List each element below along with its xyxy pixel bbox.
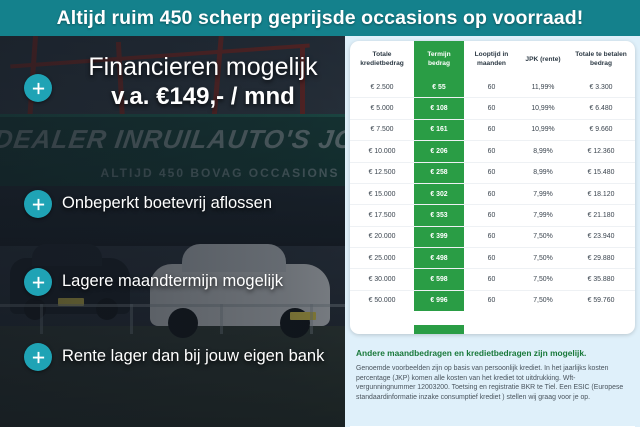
table-row: € 30.000€ 598607,50%€ 35.880 xyxy=(350,269,635,290)
table-cell: 7,99% xyxy=(519,205,567,226)
table-cell: 60 xyxy=(464,77,519,98)
table-cell: € 12.360 xyxy=(567,141,635,162)
table-cell: 7,99% xyxy=(519,183,567,204)
table-cell: € 3.300 xyxy=(567,77,635,98)
feature-item-3: Rente lager dan bij jouw eigen bank xyxy=(62,347,352,366)
disclaimer-body: Genoemde voorbeelden zijn op basis van p… xyxy=(356,364,628,402)
table-cell: € 15.480 xyxy=(567,162,635,183)
table-row: € 7.500€ 1616010,99%€ 9.660 xyxy=(350,119,635,140)
table-cell: 60 xyxy=(464,226,519,247)
loan-info-panel: Totale kredietbedrag Termijn bedrag Loop… xyxy=(345,36,640,427)
table-row: € 10.000€ 206608,99%€ 12.360 xyxy=(350,141,635,162)
plus-icon xyxy=(24,74,52,102)
table-cell: € 206 xyxy=(414,141,464,162)
table-cell: € 35.880 xyxy=(567,269,635,290)
table-row: € 20.000€ 399607,50%€ 23.940 xyxy=(350,226,635,247)
headline: Financieren mogelijk v.a. €149,- / mnd xyxy=(62,52,344,112)
table-cell: € 23.940 xyxy=(567,226,635,247)
loan-table-card: Totale kredietbedrag Termijn bedrag Loop… xyxy=(350,41,635,334)
table-cell: 8,99% xyxy=(519,141,567,162)
table-row: € 50.000€ 996607,50%€ 59.760 xyxy=(350,290,635,311)
table-cell: € 996 xyxy=(414,290,464,311)
table-cell: € 5.000 xyxy=(350,98,414,119)
column-header-term-amount: Termijn bedrag xyxy=(414,41,464,77)
table-cell: € 161 xyxy=(414,119,464,140)
loan-table: Totale kredietbedrag Termijn bedrag Loop… xyxy=(350,41,635,311)
plus-icon xyxy=(24,268,52,296)
table-cell: € 59.760 xyxy=(567,290,635,311)
table-row: € 12.500€ 258608,99%€ 15.480 xyxy=(350,162,635,183)
top-banner: Altijd ruim 450 scherp geprijsde occasio… xyxy=(0,0,640,36)
table-cell: € 17.500 xyxy=(350,205,414,226)
table-body: € 2.500€ 556011,99%€ 3.300€ 5.000€ 10860… xyxy=(350,77,635,311)
table-cell: 7,50% xyxy=(519,290,567,311)
table-cell: € 2.500 xyxy=(350,77,414,98)
table-cell: € 108 xyxy=(414,98,464,119)
column-header-duration: Looptijd in maanden xyxy=(464,41,519,77)
table-cell: € 498 xyxy=(414,248,464,269)
table-cell: € 50.000 xyxy=(350,290,414,311)
disclaimer: Andere maandbedragen en kredietbedragen … xyxy=(356,348,628,402)
advertisement-banner: DEALER INRUILAUTO'S JOHAN MEURE ALTIJD 4… xyxy=(0,0,640,427)
table-cell: 60 xyxy=(464,98,519,119)
headline-line2: v.a. €149,- / mnd xyxy=(62,82,344,112)
feature-item-2: Lagere maandtermijn mogelijk xyxy=(62,272,352,291)
table-cell: 8,99% xyxy=(519,162,567,183)
table-cell: 60 xyxy=(464,290,519,311)
table-cell: 60 xyxy=(464,162,519,183)
table-cell: € 302 xyxy=(414,183,464,204)
table-cell: € 598 xyxy=(414,269,464,290)
table-cell: € 25.000 xyxy=(350,248,414,269)
table-cell: € 21.180 xyxy=(567,205,635,226)
table-cell: 10,99% xyxy=(519,98,567,119)
table-cell: 7,50% xyxy=(519,248,567,269)
table-cell: € 353 xyxy=(414,205,464,226)
column-header-total-credit: Totale kredietbedrag xyxy=(350,41,414,77)
table-cell: 60 xyxy=(464,205,519,226)
table-cell: € 9.660 xyxy=(567,119,635,140)
table-cell: 60 xyxy=(464,248,519,269)
table-cell: € 6.480 xyxy=(567,98,635,119)
highlight-column-tail xyxy=(414,325,464,334)
top-banner-text: Altijd ruim 450 scherp geprijsde occasio… xyxy=(57,7,584,30)
table-cell: € 258 xyxy=(414,162,464,183)
table-cell: 7,50% xyxy=(519,226,567,247)
column-header-total-payable: Totale te betalen bedrag xyxy=(567,41,635,77)
left-content: Financieren mogelijk v.a. €149,- / mnd O… xyxy=(0,36,345,427)
table-cell: € 18.120 xyxy=(567,183,635,204)
plus-icon xyxy=(24,343,52,371)
table-cell: 60 xyxy=(464,269,519,290)
table-cell: € 7.500 xyxy=(350,119,414,140)
table-cell: 7,50% xyxy=(519,269,567,290)
table-cell: 60 xyxy=(464,119,519,140)
table-row: € 2.500€ 556011,99%€ 3.300 xyxy=(350,77,635,98)
disclaimer-title: Andere maandbedragen en kredietbedragen … xyxy=(356,348,628,359)
table-header-row: Totale kredietbedrag Termijn bedrag Loop… xyxy=(350,41,635,77)
column-header-jkp: JPK (rente) xyxy=(519,41,567,77)
plus-icon xyxy=(24,190,52,218)
table-row: € 17.500€ 353607,99%€ 21.180 xyxy=(350,205,635,226)
table-cell: € 12.500 xyxy=(350,162,414,183)
table-cell: 10,99% xyxy=(519,119,567,140)
table-cell: € 30.000 xyxy=(350,269,414,290)
table-cell: € 15.000 xyxy=(350,183,414,204)
table-cell: 60 xyxy=(464,183,519,204)
headline-line1: Financieren mogelijk xyxy=(62,52,344,82)
table-cell: € 10.000 xyxy=(350,141,414,162)
table-cell: € 20.000 xyxy=(350,226,414,247)
table-cell: 11,99% xyxy=(519,77,567,98)
table-cell: € 399 xyxy=(414,226,464,247)
table-cell: € 29.880 xyxy=(567,248,635,269)
table-row: € 15.000€ 302607,99%€ 18.120 xyxy=(350,183,635,204)
feature-item-1: Onbeperkt boetevrij aflossen xyxy=(62,194,352,213)
table-row: € 25.000€ 498607,50%€ 29.880 xyxy=(350,248,635,269)
table-cell: € 55 xyxy=(414,77,464,98)
table-cell: 60 xyxy=(464,141,519,162)
table-row: € 5.000€ 1086010,99%€ 6.480 xyxy=(350,98,635,119)
